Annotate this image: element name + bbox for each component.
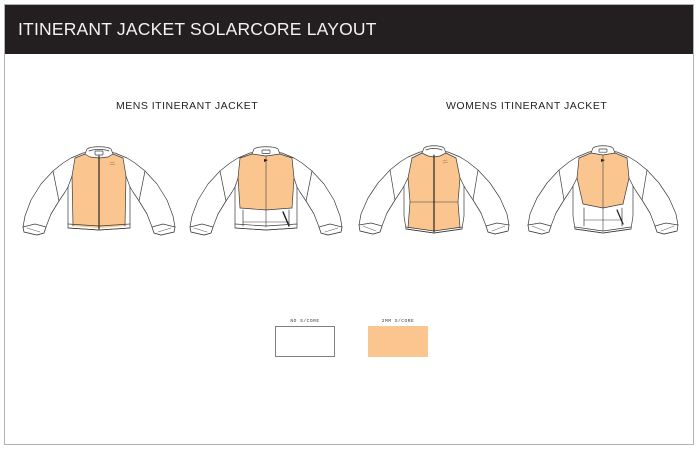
figure-mens-front [13,132,185,252]
legend-swatch-no-solarcore [275,326,335,357]
legend-item-no-solarcore: NO S/CORE [275,319,335,357]
sheet-body: MENS ITINERANT JACKET WOMENS ITINERANT J… [5,54,693,444]
title-bar: ITINERANT JACKET SOLARCORE LAYOUT [5,5,693,54]
legend-label-2mm-solarcore: 2MM S/CORE [368,319,428,324]
legend-item-2mm-solarcore: 2MM S/CORE [368,319,428,357]
section-heading-womens: WOMENS ITINERANT JACKET [446,100,607,112]
legend-swatch-2mm-solarcore [368,326,428,357]
legend-label-no-solarcore: NO S/CORE [275,319,335,324]
figure-womens-front [348,132,520,252]
figure-womens-back [517,132,689,252]
jacket-figures-row [5,132,694,252]
page-title: ITINERANT JACKET SOLARCORE LAYOUT [5,19,377,40]
figure-mens-back [180,132,352,252]
legend: NO S/CORE 2MM S/CORE [275,319,440,374]
section-heading-mens: MENS ITINERANT JACKET [116,100,258,112]
layout-sheet: ITINERANT JACKET SOLARCORE LAYOUT MENS I… [4,4,694,445]
